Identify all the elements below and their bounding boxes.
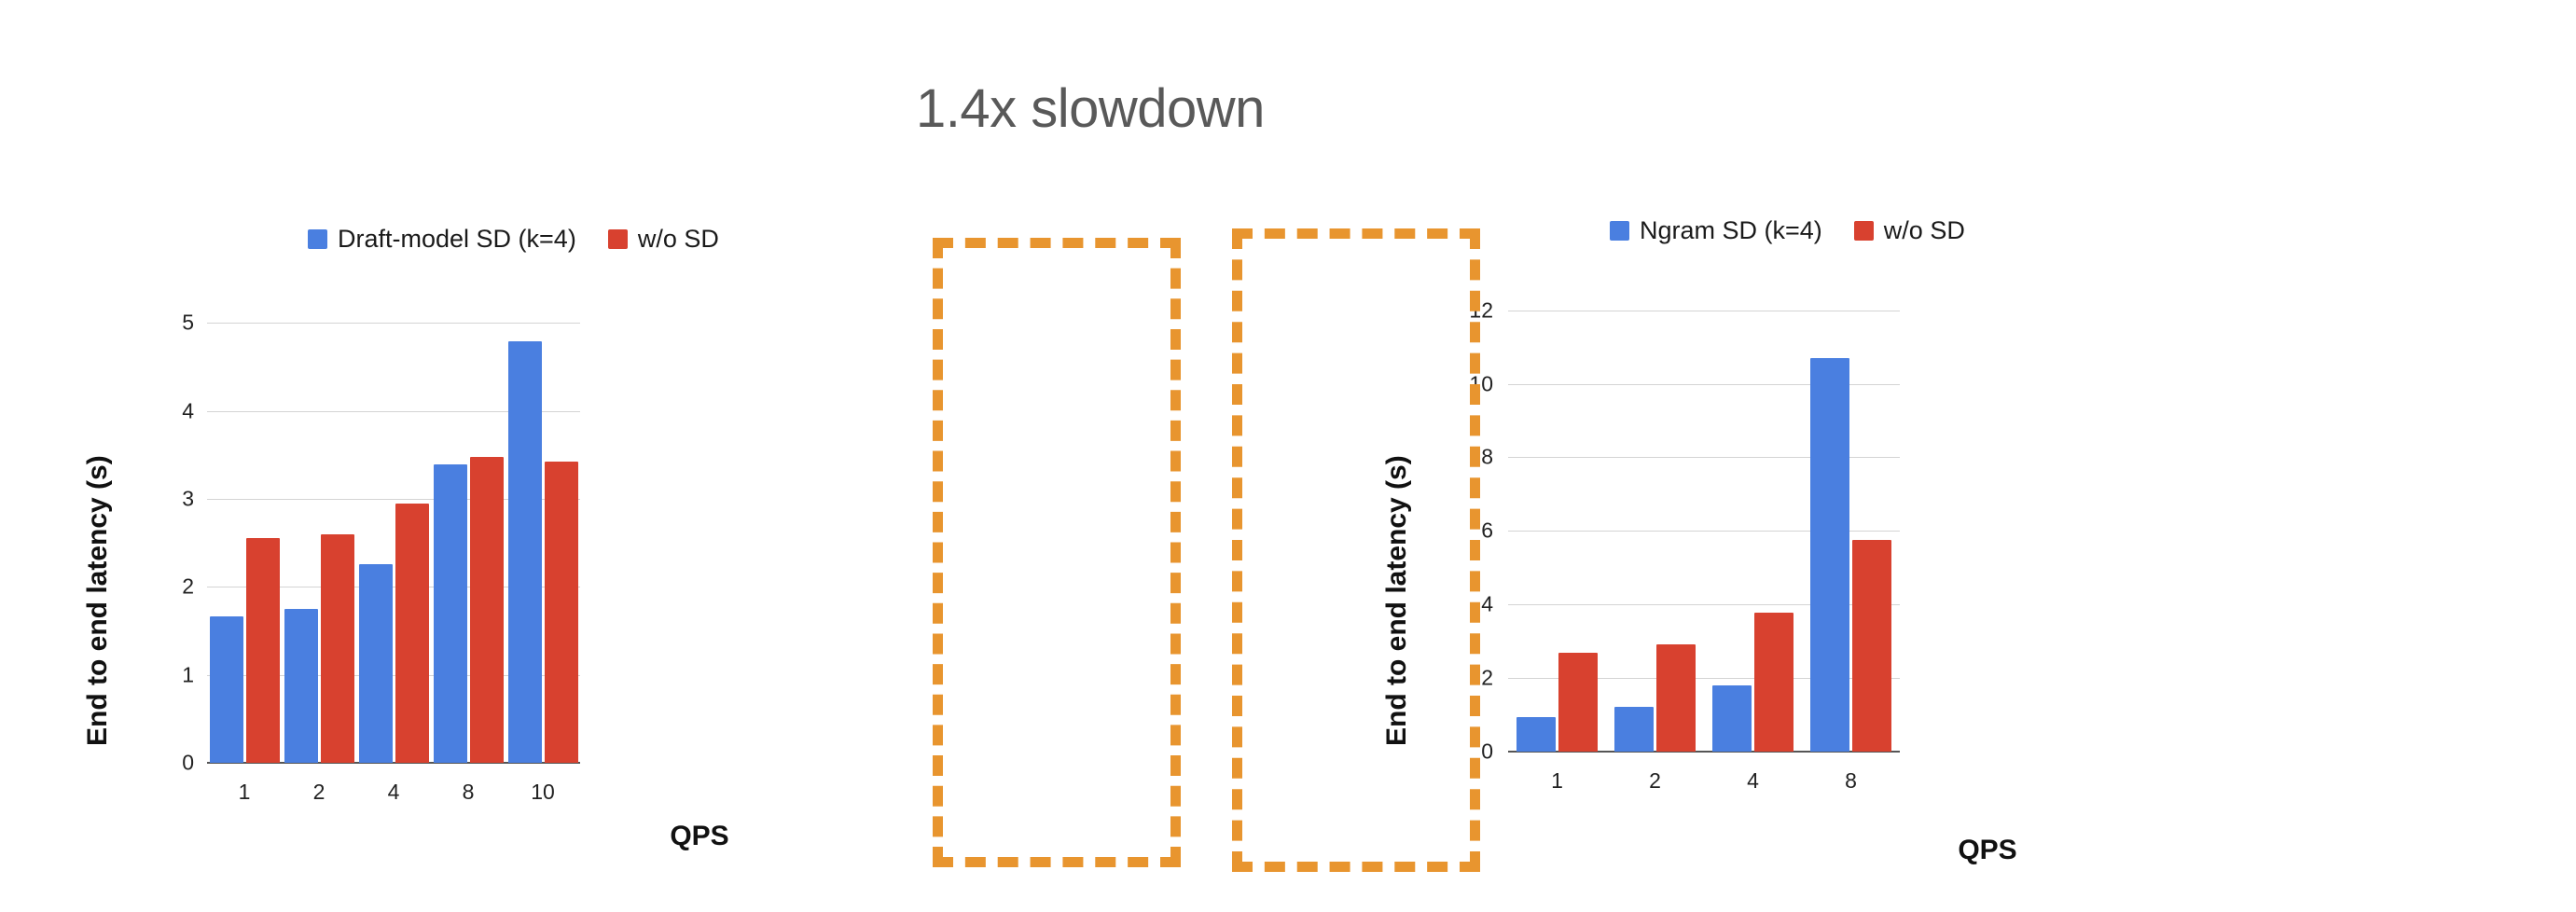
y-axis-tick-label: 12 bbox=[1456, 297, 1493, 323]
y-axis-tick-label: 8 bbox=[1456, 445, 1493, 470]
bar-series2-1 bbox=[1558, 653, 1598, 753]
legend-item-wo-sd[interactable]: w/o SD bbox=[1854, 218, 1965, 243]
legend-item-wo-sd[interactable]: w/o SD bbox=[608, 227, 719, 252]
chart-panel-right: 1.8x slowdown Ngram SD (k=4) w/o SD End … bbox=[1288, 0, 2576, 912]
y-axis-tick-label: 0 bbox=[1456, 739, 1493, 765]
bar-series2-2 bbox=[1656, 644, 1696, 752]
legend-label-series-2: w/o SD bbox=[638, 227, 719, 252]
legend-swatch-red-icon bbox=[1854, 221, 1874, 241]
y-axis-label-left: End to end latency (s) bbox=[82, 455, 114, 746]
y-axis-tick-label: 2 bbox=[1456, 666, 1493, 691]
y-axis-label-right: End to end latency (s) bbox=[1381, 455, 1413, 746]
plot-area-left: 012345124810 bbox=[207, 297, 580, 763]
legend-swatch-red-icon bbox=[608, 229, 628, 249]
bar-series1-4 bbox=[359, 564, 393, 763]
y-axis-tick-label: 4 bbox=[1456, 592, 1493, 617]
y-axis-tick-label: 4 bbox=[157, 398, 194, 423]
bar-series2-4 bbox=[1754, 613, 1794, 752]
x-axis-tick-label: 1 bbox=[207, 780, 282, 805]
bar-series2-4 bbox=[395, 504, 429, 763]
bar-series1-2 bbox=[284, 609, 318, 763]
legend-item-ngram-sd[interactable]: Ngram SD (k=4) bbox=[1610, 218, 1822, 243]
bar-series2-8 bbox=[1852, 540, 1891, 752]
legend-item-draft-model-sd[interactable]: Draft-model SD (k=4) bbox=[308, 227, 576, 252]
bar-series2-1 bbox=[246, 538, 280, 763]
slide-canvas: 1.4x slowdown Draft-model SD (k=4) w/o S… bbox=[0, 0, 2576, 912]
bar-series2-8 bbox=[470, 457, 504, 763]
legend-label-series-1: Ngram SD (k=4) bbox=[1640, 218, 1822, 243]
legend-label-series-1: Draft-model SD (k=4) bbox=[338, 227, 576, 252]
panel-title-left: 1.4x slowdown bbox=[916, 77, 1265, 140]
x-axis-label-right: QPS bbox=[1866, 835, 2109, 866]
bar-series1-8 bbox=[434, 464, 467, 763]
x-axis-tick-label: 1 bbox=[1520, 768, 1595, 794]
gridline bbox=[207, 323, 580, 324]
x-axis-tick-label: 8 bbox=[1814, 768, 1889, 794]
x-axis-tick-label: 8 bbox=[431, 780, 506, 805]
plot-area-right: 0246810121248 bbox=[1508, 284, 1900, 752]
legend-label-series-2: w/o SD bbox=[1884, 218, 1965, 243]
y-axis-tick-label: 1 bbox=[157, 662, 194, 687]
chart-legend-right: Ngram SD (k=4) w/o SD bbox=[1610, 218, 1965, 243]
bar-series2-10 bbox=[545, 462, 578, 763]
x-axis-label-left: QPS bbox=[578, 821, 821, 852]
legend-swatch-blue-icon bbox=[1610, 221, 1629, 241]
x-axis-tick-label: 2 bbox=[1618, 768, 1693, 794]
x-axis-tick-label: 4 bbox=[1716, 768, 1791, 794]
gridline bbox=[1508, 311, 1900, 311]
legend-swatch-blue-icon bbox=[308, 229, 327, 249]
bar-series1-1 bbox=[1517, 717, 1556, 752]
chart-panel-left: 1.4x slowdown Draft-model SD (k=4) w/o S… bbox=[0, 0, 1288, 912]
highlight-box-left bbox=[933, 238, 1181, 867]
chart-legend-left: Draft-model SD (k=4) w/o SD bbox=[308, 227, 719, 252]
y-axis-tick-label: 3 bbox=[157, 486, 194, 511]
y-axis-tick-label: 2 bbox=[157, 574, 194, 600]
y-axis-tick-label: 6 bbox=[1456, 518, 1493, 544]
x-axis-tick-label: 10 bbox=[506, 780, 580, 805]
bar-series1-8 bbox=[1810, 358, 1849, 752]
bar-series2-2 bbox=[321, 534, 354, 763]
bar-series1-4 bbox=[1712, 685, 1752, 752]
y-axis-tick-label: 5 bbox=[157, 311, 194, 336]
bar-series1-1 bbox=[210, 616, 243, 763]
x-axis-tick-label: 4 bbox=[356, 780, 431, 805]
bar-series1-10 bbox=[508, 341, 542, 763]
y-axis-tick-label: 10 bbox=[1456, 371, 1493, 396]
bar-series1-2 bbox=[1614, 707, 1654, 752]
x-axis-tick-label: 2 bbox=[282, 780, 356, 805]
y-axis-tick-label: 0 bbox=[157, 751, 194, 776]
